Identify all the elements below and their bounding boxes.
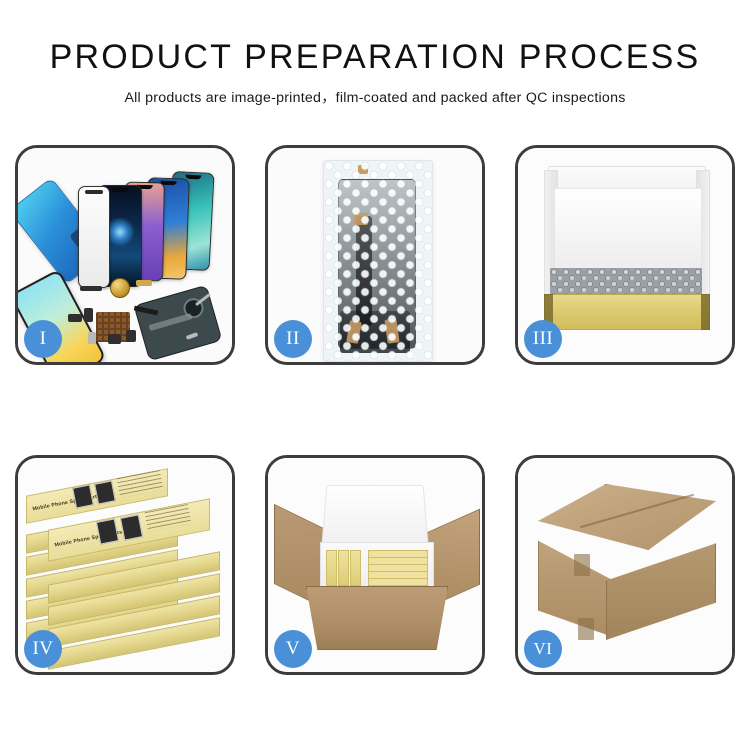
box-window-icon bbox=[94, 480, 116, 504]
page-subtitle: All products are image-printed，film-coat… bbox=[0, 87, 750, 107]
connector-icon bbox=[84, 308, 93, 322]
speaker-icon bbox=[108, 334, 121, 344]
box-window-icon bbox=[96, 518, 119, 544]
screen-glass-icon bbox=[78, 186, 110, 288]
step-badge-5: V bbox=[274, 630, 312, 668]
carton-body-icon bbox=[306, 586, 448, 650]
small-part-icon bbox=[80, 286, 102, 291]
steps-grid: I II bbox=[15, 145, 735, 675]
step-panel-6: VI bbox=[515, 455, 735, 675]
gold-flex-icon bbox=[136, 280, 152, 286]
carton-left-face bbox=[538, 530, 610, 636]
inner-box-icon bbox=[338, 550, 349, 586]
carton-tape-tab bbox=[578, 618, 594, 640]
step-panel-5: V bbox=[265, 455, 485, 675]
step-badge-6: VI bbox=[524, 630, 562, 668]
step-panel-1: I bbox=[15, 145, 235, 365]
gold-component-icon bbox=[110, 278, 130, 298]
bubble-padding-icon bbox=[550, 268, 702, 296]
carton-tape-tab bbox=[574, 554, 590, 576]
step-badge-2: II bbox=[274, 320, 312, 358]
inner-box-stack-icon bbox=[368, 550, 428, 588]
page-title: PRODUCT PREPARATION PROCESS bbox=[0, 40, 750, 76]
box-window-icon bbox=[72, 484, 94, 508]
step-panel-2: II bbox=[265, 145, 485, 365]
step-badge-1: I bbox=[24, 320, 62, 358]
step-panel-4: Mobile Phone Spare Parts Mobile Phone Sp… bbox=[15, 455, 235, 675]
camera-module-icon bbox=[126, 330, 136, 342]
box-window-icon bbox=[120, 514, 143, 540]
bracket-icon bbox=[68, 314, 82, 322]
product-preparation-infographic: PRODUCT PREPARATION PROCESS All products… bbox=[0, 0, 750, 750]
foam-sheet-icon bbox=[554, 188, 702, 272]
sim-tray-icon bbox=[88, 332, 96, 344]
bubble-texture bbox=[324, 161, 432, 361]
step-panel-3: III bbox=[515, 145, 735, 365]
kraft-tray-icon bbox=[544, 294, 710, 330]
header: PRODUCT PREPARATION PROCESS All products… bbox=[0, 0, 750, 107]
inner-box-icon bbox=[350, 550, 361, 586]
step-badge-4: IV bbox=[24, 630, 62, 668]
bubble-wrap-bag-icon bbox=[323, 160, 433, 362]
inner-box-icon bbox=[326, 550, 337, 586]
foam-lid-icon bbox=[321, 485, 428, 546]
step-badge-3: III bbox=[524, 320, 562, 358]
carton-right-face bbox=[606, 530, 716, 640]
